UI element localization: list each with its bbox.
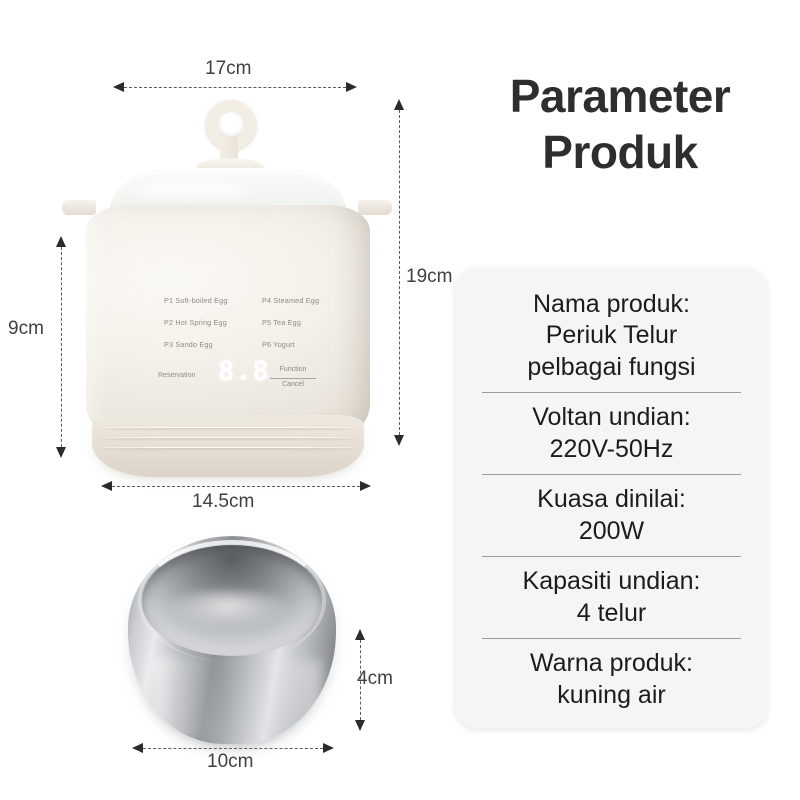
dimension-label-lid-width: 17cm (205, 58, 251, 80)
dimension-arrow-right (346, 82, 357, 92)
dimension-arrow-down (56, 447, 66, 458)
spec-value-power: 200W (469, 516, 754, 548)
side-handle-right (358, 200, 392, 215)
inner-steel-bowl (128, 536, 336, 744)
spec-label-power: Kuasa dinilai: (469, 484, 754, 516)
spec-value-product-name-line2: pelbagai fungsi (469, 352, 754, 384)
dimension-line-lid-width (124, 87, 346, 88)
program-label-p5[interactable]: P5 Tea Egg (262, 318, 301, 327)
dimension-arrow-up (394, 99, 404, 110)
dimension-arrow-up (56, 236, 66, 247)
dimension-arrow-left (101, 481, 112, 491)
cooker-base (92, 415, 364, 477)
bowl-rim (138, 540, 326, 662)
dimension-label-bowl-diameter: 10cm (207, 751, 253, 773)
spec-row-product-name: Nama produk: Periuk Telur pelbagai fungs… (455, 285, 768, 388)
spec-row-color: Warna produk: kuning air (455, 644, 768, 715)
spec-divider (482, 392, 741, 393)
spec-value-capacity: 4 telur (469, 598, 754, 630)
spec-value-voltage: 220V-50Hz (469, 434, 754, 466)
dimension-label-base-width: 14.5cm (192, 491, 254, 513)
dimension-line-base-width (112, 486, 360, 487)
dimension-arrow-left (132, 743, 143, 753)
spec-row-voltage: Voltan undian: 220V-50Hz (455, 398, 768, 469)
program-label-p3[interactable]: P3 Sando Egg (164, 340, 213, 349)
dimension-label-bowl-height: 4cm (357, 668, 393, 690)
spec-row-capacity: Kapasiti undian: 4 telur (455, 562, 768, 633)
dimension-line-total-height (399, 110, 400, 435)
spec-divider (482, 556, 741, 557)
spec-label-product-name: Nama produk: (469, 289, 754, 321)
control-panel: P1 Soft-boiled Egg P2 Hot Spring Egg P3 … (150, 286, 350, 396)
dimension-arrow-right (323, 743, 334, 753)
led-display: 8.8 (218, 356, 270, 387)
program-label-p2[interactable]: P2 Hot Spring Egg (164, 318, 227, 327)
spec-label-capacity: Kapasiti undian: (469, 566, 754, 598)
dimension-line-body-height (61, 247, 62, 447)
reservation-button[interactable]: Reservation (158, 372, 195, 379)
bowl-sheen-left (152, 656, 222, 740)
spec-row-power: Kuasa dinilai: 200W (455, 480, 768, 551)
page-title-line2: Produk (455, 124, 785, 180)
cancel-button[interactable]: Cancel (268, 381, 318, 388)
spec-label-voltage: Voltan undian: (469, 402, 754, 434)
spec-divider (482, 474, 741, 475)
spec-label-color: Warna produk: (469, 648, 754, 680)
dimension-label-total-height: 19cm (406, 266, 452, 288)
dimension-arrow-down (394, 435, 404, 446)
program-label-p6[interactable]: P6 Yogurt (262, 340, 295, 349)
specification-card: Nama produk: Periuk Telur pelbagai fungs… (455, 268, 768, 728)
side-handle-left (62, 200, 96, 215)
program-label-p1[interactable]: P1 Soft-boiled Egg (164, 296, 228, 305)
dimension-line-bowl-diameter (143, 748, 323, 749)
product-illustration: 17cm 19cm 9cm P1 Soft-boiled Egg P2 Hot … (0, 0, 455, 800)
dimension-arrow-left (113, 82, 124, 92)
spec-divider (482, 638, 741, 639)
dimension-arrow-up (355, 629, 365, 640)
page-title-line1: Parameter (455, 68, 785, 124)
glass-lid-highlight (132, 182, 252, 204)
spec-value-color: kuning air (469, 680, 754, 712)
dimension-arrow-down (355, 720, 365, 731)
program-label-p4[interactable]: P4 Steamed Egg (262, 296, 319, 305)
dimension-arrow-right (360, 481, 371, 491)
spec-value-product-name-line1: Periuk Telur (469, 320, 754, 352)
page-title: Parameter Produk (455, 68, 785, 180)
function-button[interactable]: Function (268, 366, 318, 373)
dimension-label-body-height: 9cm (8, 318, 44, 340)
bowl-sheen-right (268, 660, 322, 736)
function-cancel-divider (270, 378, 316, 379)
